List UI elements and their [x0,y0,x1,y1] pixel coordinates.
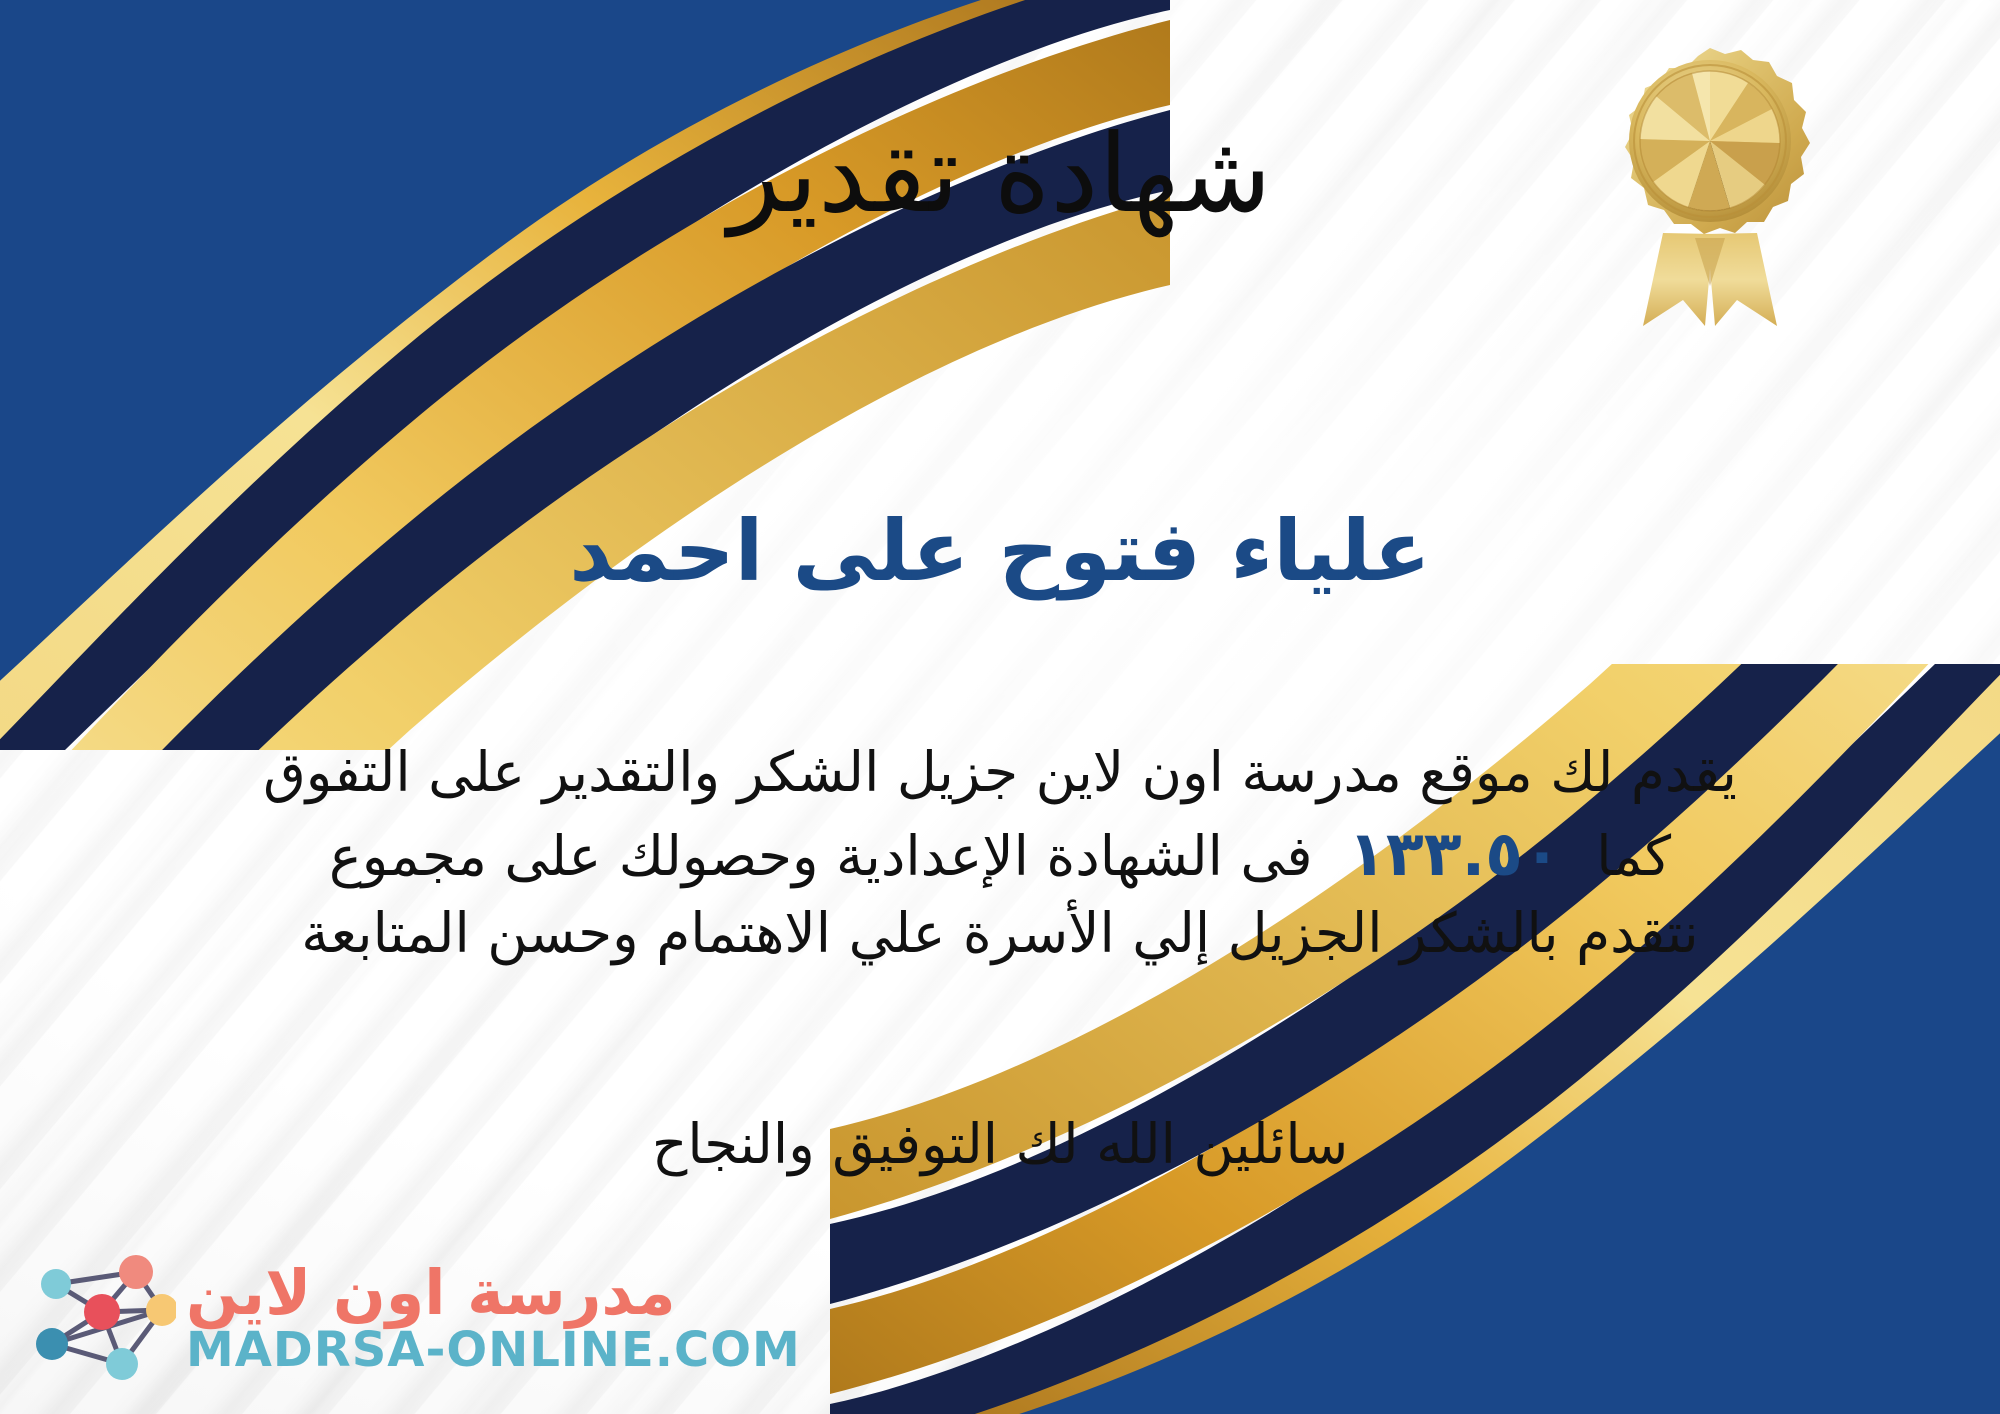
body-line-2-prefix: فى الشهادة الإعدادية وحصولك على مجموع [329,824,1313,888]
gold-band-3 [0,195,1170,750]
brand-text: مدرسة اون لاين MADRSA-ONLINE.COM [186,1262,801,1374]
node-darkblue [36,1328,68,1360]
brand-website: MADRSA-ONLINE.COM [186,1326,801,1374]
node-red [84,1294,120,1330]
node-yellow [146,1294,176,1326]
body-line-2: كما ١٣٣.٥٠ فى الشهادة الإعدادية وحصولك ع… [72,811,1928,897]
brand-logo[interactable]: مدرسة اون لاين MADRSA-ONLINE.COM [26,1248,801,1388]
certificate-page: شهادة تقدير علياء فتوح على احمد يقدم لك … [0,0,2000,1414]
node-coral [119,1255,153,1289]
score-value: ١٣٣.٥٠ [1330,817,1579,890]
closing-wish: سائلين الله لك التوفيق والنجاح [0,1112,2000,1176]
body-line-3: نتقدم بالشكر الجزيل إلي الأسرة علي الاهت… [72,896,1928,972]
node-lightblue-2 [106,1348,138,1380]
brand-arabic-name: مدرسة اون لاين [186,1262,676,1324]
node-lightblue [41,1269,71,1299]
certificate-body: يقدم لك موقع مدرسة اون لاين جزيل الشكر و… [72,735,1928,972]
network-nodes-icon [26,1248,176,1388]
student-name: علياء فتوح على احمد [0,505,2000,597]
body-line-2-suffix: كما [1596,824,1671,888]
page-title: شهادة تقدير [0,118,2000,231]
body-line-1: يقدم لك موقع مدرسة اون لاين جزيل الشكر و… [72,735,1928,811]
